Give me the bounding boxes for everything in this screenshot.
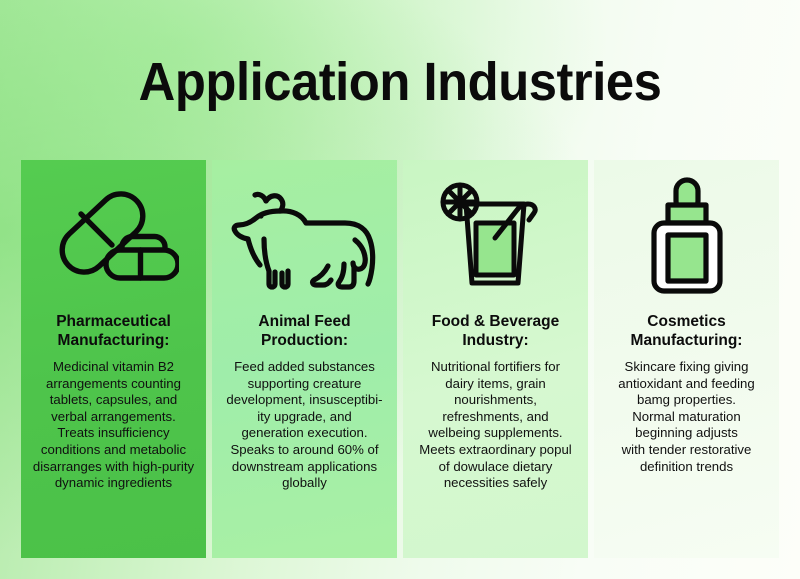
- industry-card-cosmetics: Cosmetics Manufacturing: Skincare fixing…: [594, 160, 779, 558]
- industry-cards-row: Pharmaceutical Manufacturing: Medicinal …: [21, 160, 779, 558]
- card-heading: Cosmetics Manufacturing:: [600, 312, 773, 350]
- dropper-bottle-icon: [642, 160, 732, 312]
- card-heading: Animal Feed Production:: [218, 312, 391, 350]
- card-body: Medicinal vitamin B2 arrangements counti…: [33, 359, 194, 492]
- infographic-poster: Application Industries Pharmaceutical Ma…: [0, 0, 800, 579]
- card-heading: Pharmaceutical Manufacturing:: [27, 312, 200, 350]
- card-heading: Food & Beverage Industry:: [409, 312, 582, 350]
- card-body: Skincare fixing giving antioxidant and f…: [618, 359, 754, 475]
- card-body: Nutritional fortifiers for dairy items, …: [419, 359, 571, 492]
- beverage-glass-icon: [432, 160, 560, 312]
- page-title: Application Industries: [139, 50, 662, 114]
- title-container: Application Industries: [0, 14, 800, 150]
- cow-icon: [230, 160, 380, 312]
- card-body: Feed added substances supporting creatur…: [226, 359, 382, 492]
- industry-card-pharmaceutical: Pharmaceutical Manufacturing: Medicinal …: [21, 160, 206, 558]
- pills-capsules-icon: [49, 160, 179, 312]
- industry-card-animal-feed: Animal Feed Production: Feed added subst…: [212, 160, 397, 558]
- industry-card-food-beverage: Food & Beverage Industry: Nutritional fo…: [403, 160, 588, 558]
